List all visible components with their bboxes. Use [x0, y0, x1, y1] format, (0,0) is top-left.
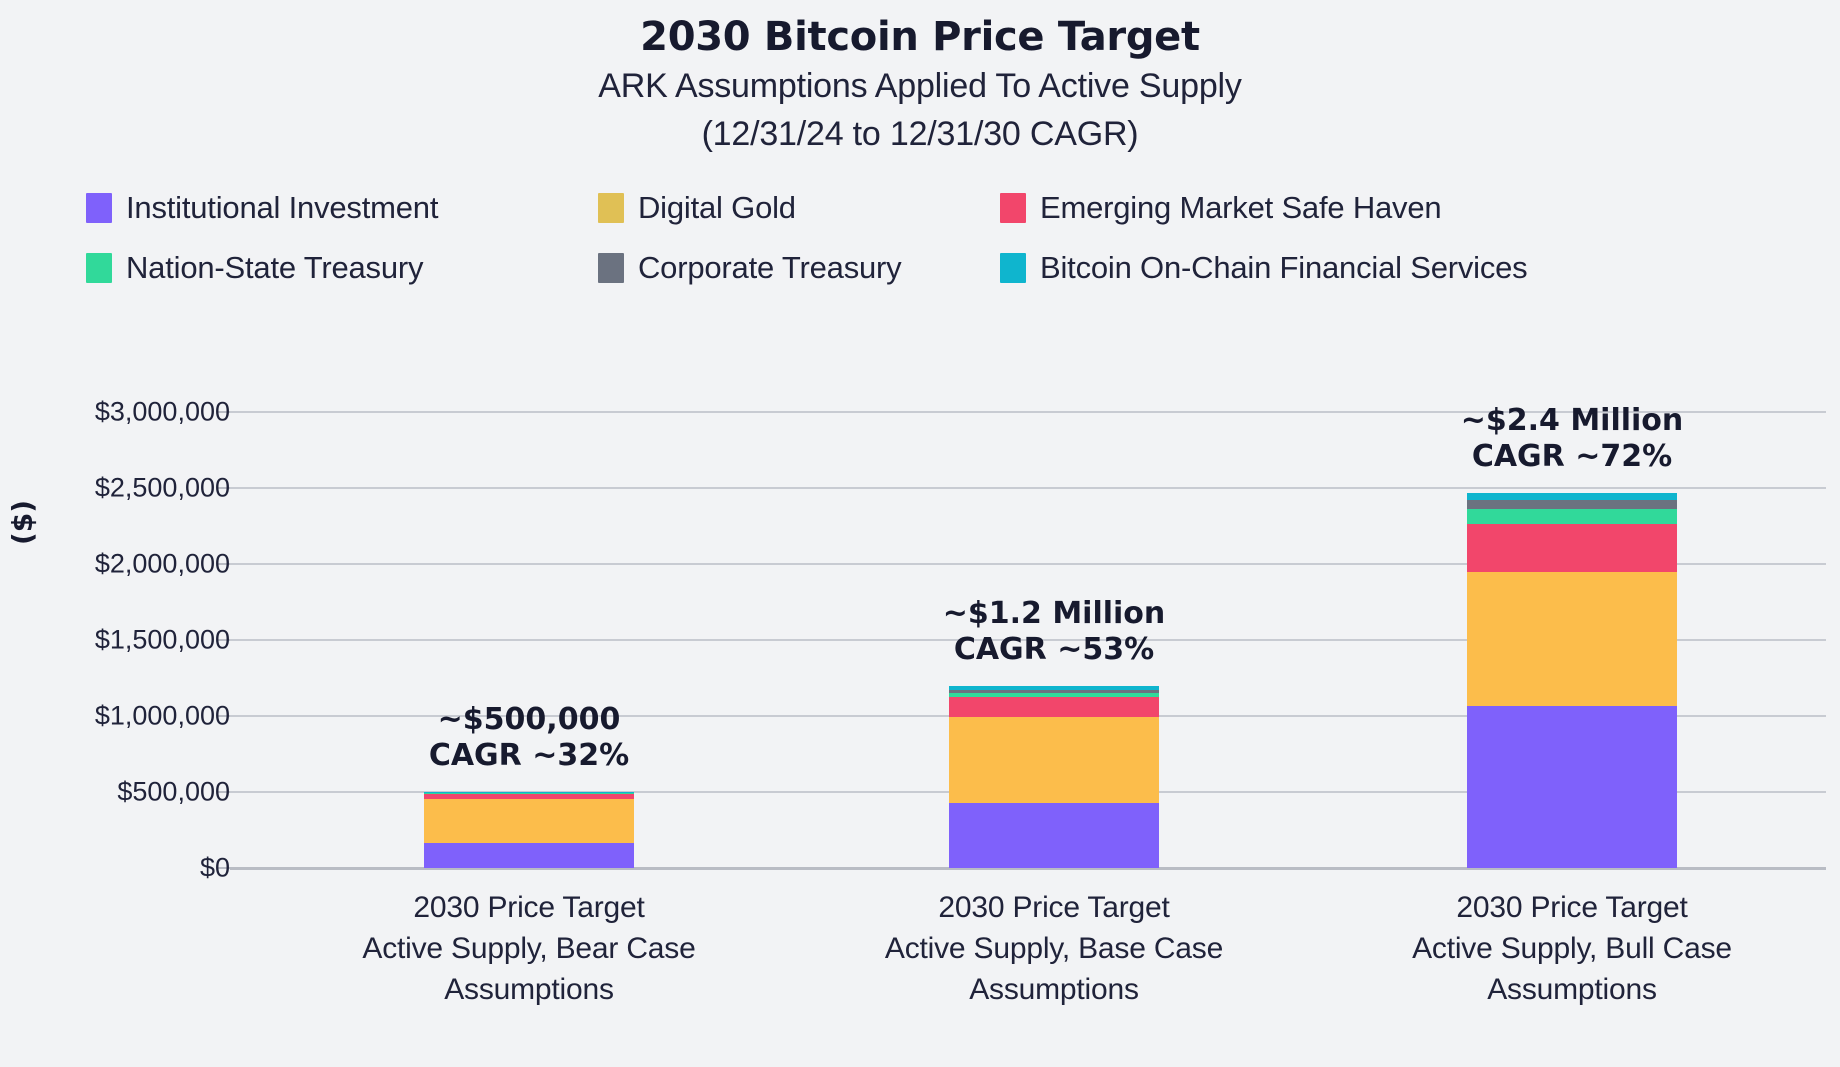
x-axis-category-line: 2030 Price Target: [1322, 888, 1822, 929]
bar-value-label: ~$1.2 Million: [854, 596, 1254, 632]
bar-value-annotation: ~$500,000CAGR ~32%: [329, 702, 729, 774]
bar-segment-emerging-market-safe-haven[interactable]: [949, 697, 1159, 717]
x-axis-category-line: Active Supply, Bear Case: [279, 929, 779, 970]
x-axis-category-line: 2030 Price Target: [804, 888, 1304, 929]
bitcoin-price-target-chart: 2030 Bitcoin Price Target ARK Assumption…: [0, 0, 1840, 1067]
bar-segment-digital-gold[interactable]: [424, 799, 634, 843]
gridline: [230, 487, 1826, 489]
bar-cagr-label: CAGR ~72%: [1372, 439, 1772, 475]
x-axis-category-label: 2030 Price TargetActive Supply, Bear Cas…: [279, 888, 779, 1010]
y-axis-tick-label: $3,000,000: [60, 397, 230, 428]
y-axis-tick-label: $2,500,000: [60, 473, 230, 504]
y-axis-tick-label: $1,000,000: [60, 701, 230, 732]
bar-segment-emerging-market-safe-haven[interactable]: [1467, 524, 1677, 572]
stacked-bar[interactable]: [1467, 493, 1677, 868]
y-axis-title: ($): [6, 500, 39, 545]
x-axis-category-line: Assumptions: [1322, 970, 1822, 1011]
bar-segment-nation-state-treasury[interactable]: [1467, 509, 1677, 523]
bar-segment-digital-gold[interactable]: [949, 717, 1159, 804]
bar-value-label: ~$2.4 Million: [1372, 403, 1772, 439]
bar-segment-institutional-investment[interactable]: [424, 843, 634, 868]
stacked-bar[interactable]: [949, 686, 1159, 868]
x-axis-category-line: 2030 Price Target: [279, 888, 779, 929]
y-axis-tick-label: $2,000,000: [60, 549, 230, 580]
stacked-bar[interactable]: [424, 792, 634, 868]
x-axis-category-line: Assumptions: [279, 970, 779, 1011]
x-axis-category-line: Active Supply, Bull Case: [1322, 929, 1822, 970]
bar-segment-institutional-investment[interactable]: [949, 803, 1159, 868]
y-axis-tick-label: $500,000: [60, 777, 230, 808]
plot-area: ($) $3,000,000$2,500,000$2,000,000$1,500…: [0, 0, 1840, 1067]
bar-segment-bitcoin-on-chain-financial-services[interactable]: [1467, 493, 1677, 500]
x-axis-category-label: 2030 Price TargetActive Supply, Base Cas…: [804, 888, 1304, 1010]
bar-cagr-label: CAGR ~53%: [854, 632, 1254, 668]
y-axis-tick-label: $0: [60, 853, 230, 884]
bar-segment-corporate-treasury[interactable]: [1467, 500, 1677, 509]
bar-segment-institutional-investment[interactable]: [1467, 706, 1677, 868]
bar-segment-digital-gold[interactable]: [1467, 572, 1677, 707]
x-axis-category-line: Active Supply, Base Case: [804, 929, 1304, 970]
bar-value-annotation: ~$2.4 MillionCAGR ~72%: [1372, 403, 1772, 475]
bar-value-label: ~$500,000: [329, 702, 729, 738]
bar-cagr-label: CAGR ~32%: [329, 738, 729, 774]
bar-value-annotation: ~$1.2 MillionCAGR ~53%: [854, 596, 1254, 668]
x-axis-category-label: 2030 Price TargetActive Supply, Bull Cas…: [1322, 888, 1822, 1010]
y-axis-tick-label: $1,500,000: [60, 625, 230, 656]
x-axis-category-line: Assumptions: [804, 970, 1304, 1011]
